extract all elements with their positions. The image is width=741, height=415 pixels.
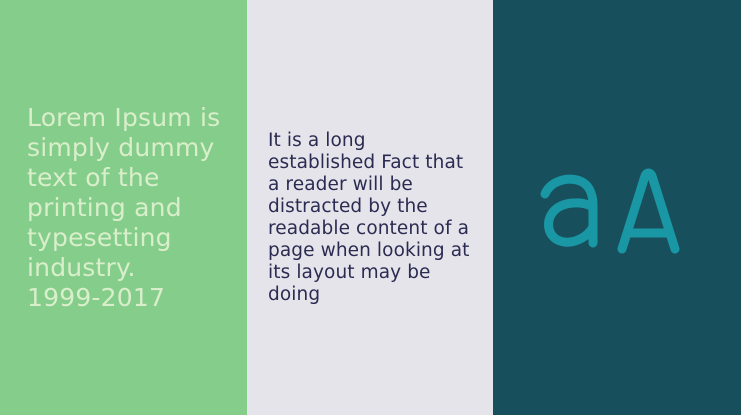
font-specimen-board: Lorem Ipsum is simply dummy text of the … [0, 0, 741, 415]
green-sample-text: Lorem Ipsum is simply dummy text of the … [27, 103, 232, 313]
light-sample-text: It is a long established Fact that a rea… [268, 130, 476, 306]
light-sample-panel: It is a long established Fact that a rea… [247, 0, 493, 415]
glyph-pair-svg [536, 155, 696, 265]
green-sample-panel: Lorem Ipsum is simply dummy text of the … [0, 0, 247, 415]
glyph-specimen-panel [493, 0, 741, 415]
glyph-lowercase-a-icon [545, 179, 593, 243]
glyph-uppercase-a-icon [622, 173, 675, 249]
glyph-pair-aA [536, 155, 696, 265]
